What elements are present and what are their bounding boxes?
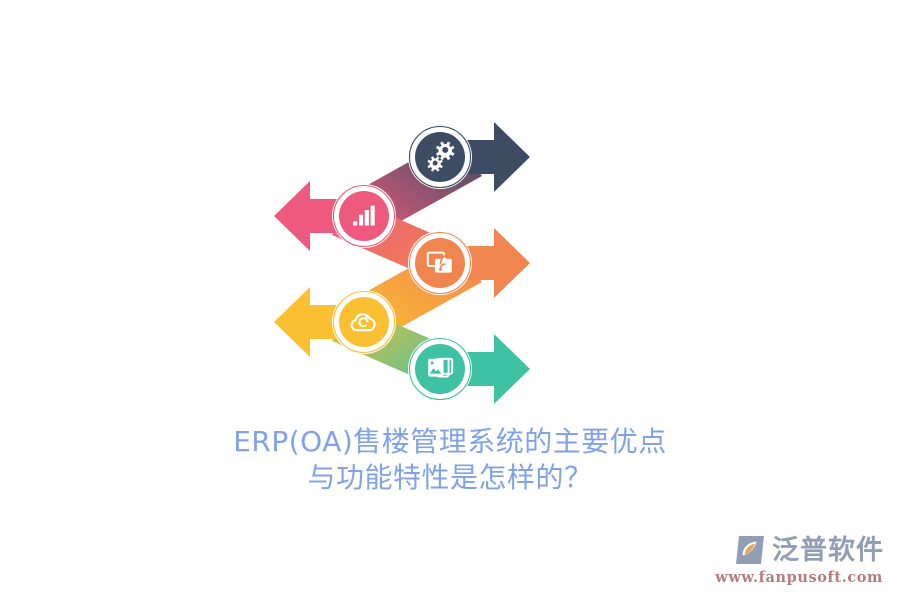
node-badge-cloud-sync[interactable]	[332, 290, 396, 354]
node-badge-photo-gallery[interactable]	[408, 337, 472, 401]
photo-gallery-icon	[428, 359, 452, 377]
brand-url: www.fanpusoft.com	[715, 569, 883, 586]
watermark: 泛普软件 www.fanpusoft.com	[715, 533, 884, 586]
page-title-line-1: ERP(OA)售楼管理系统的主要优点	[0, 424, 900, 460]
page-root: ERP(OA)售楼管理系统的主要优点 与功能特性是怎样的？ 泛普软件 www.f…	[0, 0, 900, 600]
node-badge-screen-cast[interactable]	[408, 231, 472, 295]
brand-name: 泛普软件	[772, 537, 884, 564]
page-title: ERP(OA)售楼管理系统的主要优点 与功能特性是怎样的？	[0, 424, 900, 497]
fanpu-logo-icon	[733, 533, 767, 567]
node-badge-gears[interactable]	[408, 125, 472, 189]
infographic-graphic	[0, 0, 900, 420]
node-badge-bar-chart[interactable]	[332, 184, 396, 248]
brand-row: 泛普软件	[733, 533, 884, 567]
page-title-line-2: 与功能特性是怎样的？	[0, 460, 900, 496]
